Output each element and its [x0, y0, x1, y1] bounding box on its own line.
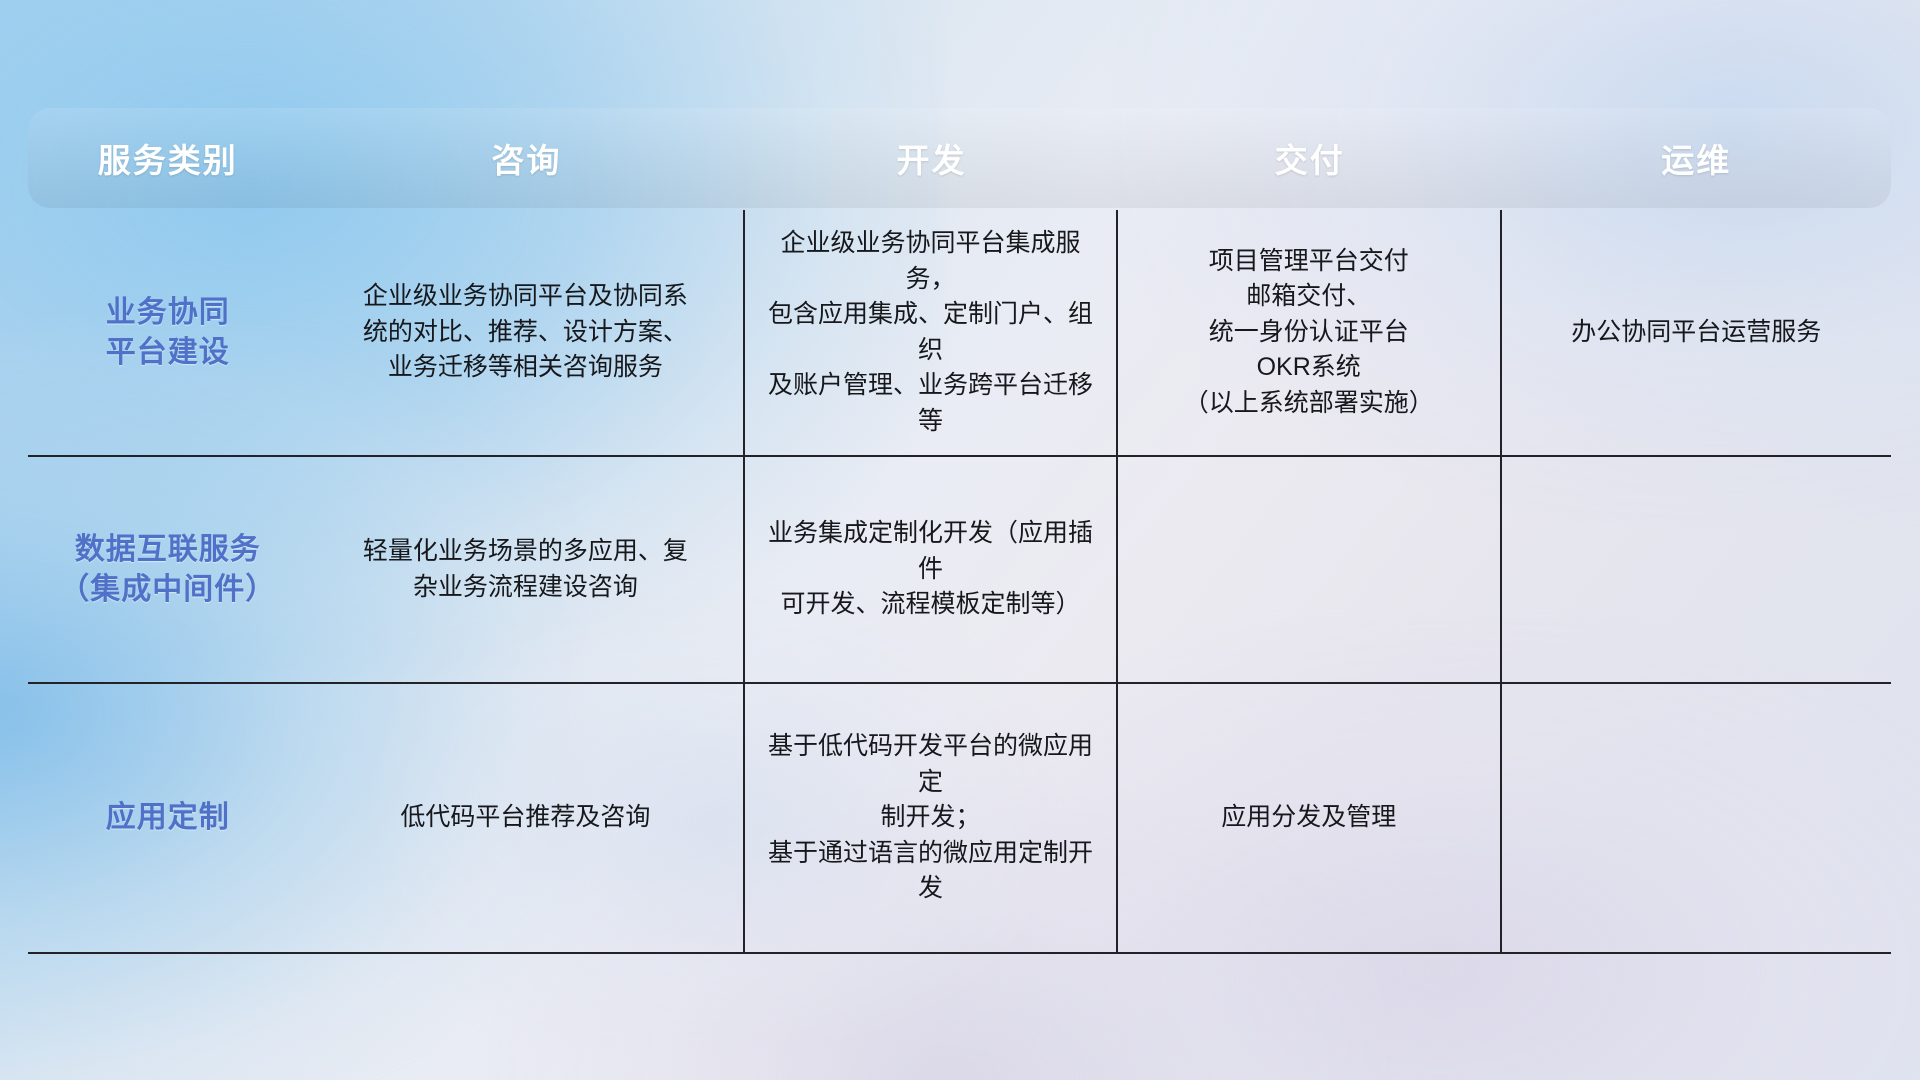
row-label-business-collaboration: 业务协同 平台建设 [28, 210, 307, 455]
table-row: 应用定制 低代码平台推荐及咨询 基于低代码开发平台的微应用定 制开发； 基于通过… [28, 684, 1891, 954]
column-header-consulting: 咨询 [307, 108, 745, 208]
cell-operations-business-collaboration: 办公协同平台运营服务 [1502, 210, 1891, 455]
cell-delivery-data-interconnect [1118, 457, 1502, 682]
row-label-data-interconnect: 数据互联服务 （集成中间件） [28, 457, 307, 682]
table-row: 业务协同 平台建设 企业级业务协同平台及协同系 统的对比、推荐、设计方案、 业务… [28, 210, 1891, 457]
cell-consulting-app-customization: 低代码平台推荐及咨询 [307, 684, 745, 952]
column-header-service-category: 服务类别 [28, 108, 307, 208]
column-header-operations: 运维 [1502, 108, 1891, 208]
service-matrix-table: 服务类别 咨询 开发 交付 运维 业务协同 平台建设 企业级业务协同平台及协同系… [28, 108, 1891, 946]
table-header-row: 服务类别 咨询 开发 交付 运维 [28, 108, 1891, 208]
cell-development-app-customization: 基于低代码开发平台的微应用定 制开发； 基于通过语言的微应用定制开发 [745, 684, 1118, 952]
cell-consulting-business-collaboration: 企业级业务协同平台及协同系 统的对比、推荐、设计方案、 业务迁移等相关咨询服务 [307, 210, 745, 455]
cell-delivery-business-collaboration: 项目管理平台交付 邮箱交付、 统一身份认证平台 OKR系统 （以上系统部署实施） [1118, 210, 1502, 455]
table-row: 数据互联服务 （集成中间件） 轻量化业务场景的多应用、复 杂业务流程建设咨询 业… [28, 457, 1891, 684]
column-header-development: 开发 [745, 108, 1118, 208]
row-label-app-customization: 应用定制 [28, 684, 307, 952]
column-header-delivery: 交付 [1118, 108, 1502, 208]
cell-operations-data-interconnect [1502, 457, 1891, 682]
cell-operations-app-customization [1502, 684, 1891, 952]
cell-delivery-app-customization: 应用分发及管理 [1118, 684, 1502, 952]
cell-consulting-data-interconnect: 轻量化业务场景的多应用、复 杂业务流程建设咨询 [307, 457, 745, 682]
cell-development-data-interconnect: 业务集成定制化开发（应用插件 可开发、流程模板定制等） [745, 457, 1118, 682]
cell-development-business-collaboration: 企业级业务协同平台集成服务， 包含应用集成、定制门户、组织 及账户管理、业务跨平… [745, 210, 1118, 455]
table-body: 业务协同 平台建设 企业级业务协同平台及协同系 统的对比、推荐、设计方案、 业务… [28, 210, 1891, 954]
